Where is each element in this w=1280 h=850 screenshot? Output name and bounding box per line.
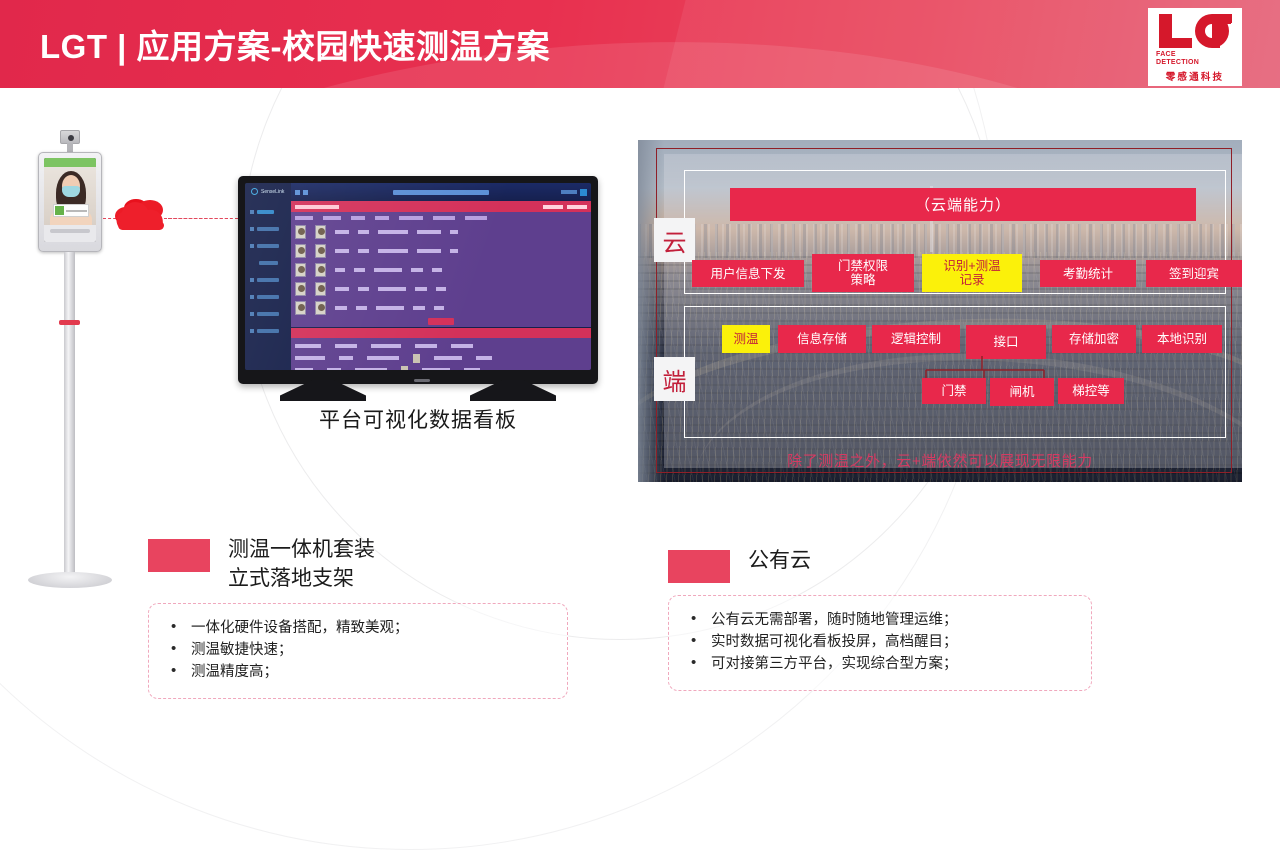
load-more-button[interactable] [428, 318, 454, 325]
sidebar-icon [250, 244, 254, 248]
feature-bullet-list: 一体化硬件设备搭配，精致美观； 测温敏捷快速； 测温精度高； [165, 617, 551, 683]
secondary-table [291, 338, 591, 370]
row-cell [335, 268, 345, 272]
result-text-line [66, 210, 87, 212]
sidebar-item-label [257, 295, 279, 299]
row-cell [358, 287, 369, 291]
dashboard-sidebar[interactable]: SenseLink [245, 183, 291, 370]
terminal-floor-base [28, 572, 112, 588]
table-row[interactable] [291, 279, 591, 298]
sidebar-item-records[interactable] [245, 288, 291, 305]
table-section-header-1 [291, 201, 591, 212]
sidebar-item-label [257, 227, 279, 231]
column-header [351, 216, 365, 220]
tv-stand [238, 380, 598, 401]
row-cell [295, 356, 325, 360]
terminal-screen [44, 158, 96, 242]
row-photo [295, 225, 306, 239]
row-cell [413, 306, 425, 310]
logo-tagline-line1: FACE [1156, 51, 1176, 59]
row-cell [464, 368, 480, 370]
terminal-footer-bar [50, 229, 90, 233]
edge-subchip-turnstile[interactable]: 闸机 [990, 378, 1054, 406]
terminal-pole-ring [59, 320, 80, 325]
sidebar-item-attendance[interactable] [245, 305, 291, 322]
row-cell [378, 287, 406, 291]
sidebar-item-label [257, 210, 274, 214]
color-swatch [668, 550, 730, 583]
row-cell [417, 249, 441, 253]
sidebar-item-label [257, 244, 279, 248]
section-actions-1[interactable] [543, 205, 587, 209]
table-row[interactable] [291, 260, 591, 279]
row-cell [335, 249, 349, 253]
row-cell [295, 368, 313, 370]
edge-chip-temperature[interactable]: 测温 [722, 325, 770, 353]
terminal-camera-icon [60, 130, 80, 144]
edge-side-tag: 端 [654, 357, 695, 401]
row-cell [432, 268, 442, 272]
column-header [295, 216, 313, 220]
menu-icon[interactable] [295, 190, 300, 195]
cloud-icon [110, 196, 172, 236]
color-swatch [148, 539, 210, 572]
edge-subchip-access-control[interactable]: 门禁 [922, 378, 986, 404]
brand-label: SenseLink [261, 189, 284, 195]
row-cell [327, 368, 341, 370]
row-photo [295, 263, 306, 277]
row-photo [295, 244, 306, 258]
dashboard-topbar [291, 183, 591, 201]
table-header-row [291, 214, 591, 222]
row-cell [335, 287, 349, 291]
row-photo [401, 366, 408, 371]
row-cell [356, 306, 367, 310]
sidebar-item-label [257, 312, 279, 316]
edge-chip-interface[interactable]: 接口 [966, 325, 1046, 359]
table-section-header-2 [291, 328, 591, 338]
row-cell [358, 230, 369, 234]
slide-header: LGT | 应用方案-校园快速测温方案 [0, 0, 1280, 88]
row-cell [417, 230, 441, 234]
logo-company-name: 零感通科技 [1166, 69, 1225, 83]
feature-bullet-list: 公有云无需部署，随时随地管理运维； 实时数据可视化看板投屏，高档醒目； 可对接第… [685, 609, 1075, 675]
lgt-logo-icon [1155, 11, 1235, 51]
row-cell [450, 249, 458, 253]
feature-title-line1: 公有云 [748, 546, 811, 575]
feature-block-header: 公有云 [668, 546, 1092, 583]
sidebar-item-access[interactable] [245, 271, 291, 288]
terminal-screen-footer [44, 225, 96, 242]
column-header [399, 216, 423, 220]
table-header-row [291, 340, 591, 352]
row-cell [415, 287, 427, 291]
sidebar-item-label [259, 261, 278, 265]
edge-chip-local-recognition[interactable]: 本地识别 [1142, 325, 1222, 353]
table-row[interactable] [291, 241, 591, 260]
edge-chip-logic-control[interactable]: 逻辑控制 [872, 325, 960, 353]
topbar-right-controls[interactable] [561, 189, 587, 196]
row-photo [315, 244, 326, 258]
cloud-edge-capability-diagram: （云端能力） 云 端 用户信息下发 门禁权限 策略 识别+测温 记录 考勤统计 … [638, 140, 1242, 482]
terminal-result-card [53, 204, 89, 217]
sidebar-icon [250, 227, 254, 231]
feature-title-line2: 立式落地支架 [228, 564, 375, 593]
list-item: 一体化硬件设备搭配，精致美观； [165, 617, 551, 639]
cloud-chip-recognition-temperature-record[interactable]: 识别+测温 记录 [922, 254, 1022, 292]
row-cell [476, 356, 492, 360]
row-cell [434, 356, 462, 360]
row-cell [335, 306, 347, 310]
dashboard-title-text [393, 190, 489, 195]
row-cell [422, 368, 450, 370]
table-row[interactable] [291, 298, 591, 317]
sidebar-item-label [257, 329, 279, 333]
column-header [451, 344, 473, 348]
dashboard-brand: SenseLink [251, 188, 284, 195]
cloud-capability-title: （云端能力） [730, 188, 1196, 221]
cloud-chip-access-policy[interactable]: 门禁权限 策略 [812, 254, 914, 292]
brand-ring-icon [251, 188, 258, 195]
row-photo [295, 301, 306, 315]
sidebar-item-overview[interactable] [245, 203, 291, 220]
logo-tagline-line2: DETECTION [1156, 59, 1199, 67]
row-cell [434, 306, 444, 310]
tv-dashboard-visual: SenseLink [238, 176, 598, 401]
tv-leg-right [470, 380, 556, 401]
company-logo: FACE DETECTION 零感通科技 [1148, 8, 1242, 86]
add-button[interactable] [543, 205, 563, 209]
edge-subchip-elevator-control[interactable]: 梯控等 [1058, 378, 1124, 404]
list-item: 实时数据可视化看板投屏，高档醒目； [685, 631, 1075, 653]
row-cell [376, 306, 404, 310]
table-row[interactable] [291, 364, 591, 370]
page-title: LGT | 应用方案-校园快速测温方案 [40, 20, 550, 68]
terminal-pole [64, 252, 75, 577]
row-cell [411, 268, 423, 272]
result-check-icon [55, 206, 64, 215]
row-photo [413, 354, 420, 363]
refresh-icon[interactable] [303, 190, 308, 195]
list-item: 测温敏捷快速； [165, 639, 551, 661]
records-table [291, 212, 591, 327]
sidebar-icon [250, 329, 254, 333]
row-cell [335, 230, 349, 234]
row-cell [450, 230, 458, 234]
feature-title-line1: 测温一体机套装 [228, 535, 375, 564]
sidebar-item-device[interactable] [245, 237, 291, 254]
row-cell [354, 268, 365, 272]
cloud-chip-attendance-stats[interactable]: 考勤统计 [1040, 260, 1136, 287]
feature-block-titles: 测温一体机套装 立式落地支架 [228, 535, 375, 593]
list-item: 测温精度高； [165, 661, 551, 683]
sidebar-icon [250, 210, 254, 214]
list-item: 公有云无需部署，随时随地管理运维； [685, 609, 1075, 631]
tv-caption: 平台可视化数据看板 [238, 404, 598, 434]
feature-block-public-cloud: 公有云 公有云无需部署，随时随地管理运维； 实时数据可视化看板投屏，高档醒目； … [668, 546, 1092, 691]
sidebar-item-person[interactable] [245, 220, 291, 237]
cloud-side-tag: 云 [654, 218, 695, 262]
export-button[interactable] [567, 205, 587, 209]
terminal-body [38, 152, 102, 252]
row-cell [374, 268, 402, 272]
column-header [323, 216, 341, 220]
feature-block-header: 测温一体机套装 立式落地支架 [148, 535, 568, 593]
table-row[interactable] [291, 222, 591, 241]
row-photo [315, 225, 326, 239]
row-photo [295, 282, 306, 296]
dashboard-main: 00199 00006 00012 [291, 183, 591, 370]
row-photo [315, 263, 326, 277]
sidebar-subitem-device-list[interactable] [245, 254, 291, 271]
tv-leg-left [280, 380, 366, 401]
capability-note: 除了测温之外，云+端依然可以展现无限能力 [638, 450, 1242, 471]
row-cell [378, 230, 408, 234]
column-header [371, 344, 401, 348]
table-row[interactable] [291, 352, 591, 364]
edge-chip-info-storage[interactable]: 信息存储 [778, 325, 866, 353]
face-mask-icon [62, 186, 80, 197]
tv-frame: SenseLink [238, 176, 598, 384]
feature-block-device: 测温一体机套装 立式落地支架 一体化硬件设备搭配，精致美观； 测温敏捷快速； 测… [148, 535, 568, 699]
row-cell [367, 356, 399, 360]
tv-screen: SenseLink [245, 183, 591, 370]
column-header [295, 344, 321, 348]
list-item: 可对接第三方平台，实现综合型方案； [685, 653, 1075, 675]
avatar[interactable] [580, 189, 587, 196]
column-header [335, 344, 357, 348]
photo-left-fade [638, 140, 664, 482]
sidebar-icon [250, 278, 254, 282]
section-title-1 [295, 205, 339, 209]
row-cell [436, 287, 446, 291]
row-cell [378, 249, 408, 253]
row-photo [315, 301, 326, 315]
feature-bullet-box: 一体化硬件设备搭配，精致美观； 测温敏捷快速； 测温精度高； [148, 603, 568, 699]
column-header [375, 216, 389, 220]
cloud-chip-signin-greeting[interactable]: 签到迎宾 [1146, 260, 1242, 287]
feature-bullet-box: 公有云无需部署，随时随地管理运维； 实时数据可视化看板投屏，高档醒目； 可对接第… [668, 595, 1092, 691]
account-label [561, 190, 577, 194]
topbar-left-icons[interactable] [295, 190, 308, 195]
column-header [415, 344, 437, 348]
terminal-status-bar [44, 158, 96, 167]
edge-chip-storage-encryption[interactable]: 存储加密 [1052, 325, 1136, 353]
sidebar-item-label [257, 278, 279, 282]
row-cell [355, 368, 387, 370]
table-more-button-wrap[interactable] [291, 317, 591, 327]
cloud-chip-user-info-dispatch[interactable]: 用户信息下发 [692, 260, 804, 287]
column-header [433, 216, 455, 220]
row-cell [339, 356, 353, 360]
row-cell [358, 249, 369, 253]
dashboard-mock: SenseLink [245, 183, 591, 370]
column-header [465, 216, 487, 220]
terminal-face-preview [44, 167, 96, 229]
sidebar-item-settings[interactable] [245, 322, 291, 339]
dashed-link-right [168, 218, 238, 219]
sidebar-icon [250, 312, 254, 316]
sidebar-icon [250, 295, 254, 299]
row-photo [315, 282, 326, 296]
feature-block-titles: 公有云 [748, 546, 811, 575]
